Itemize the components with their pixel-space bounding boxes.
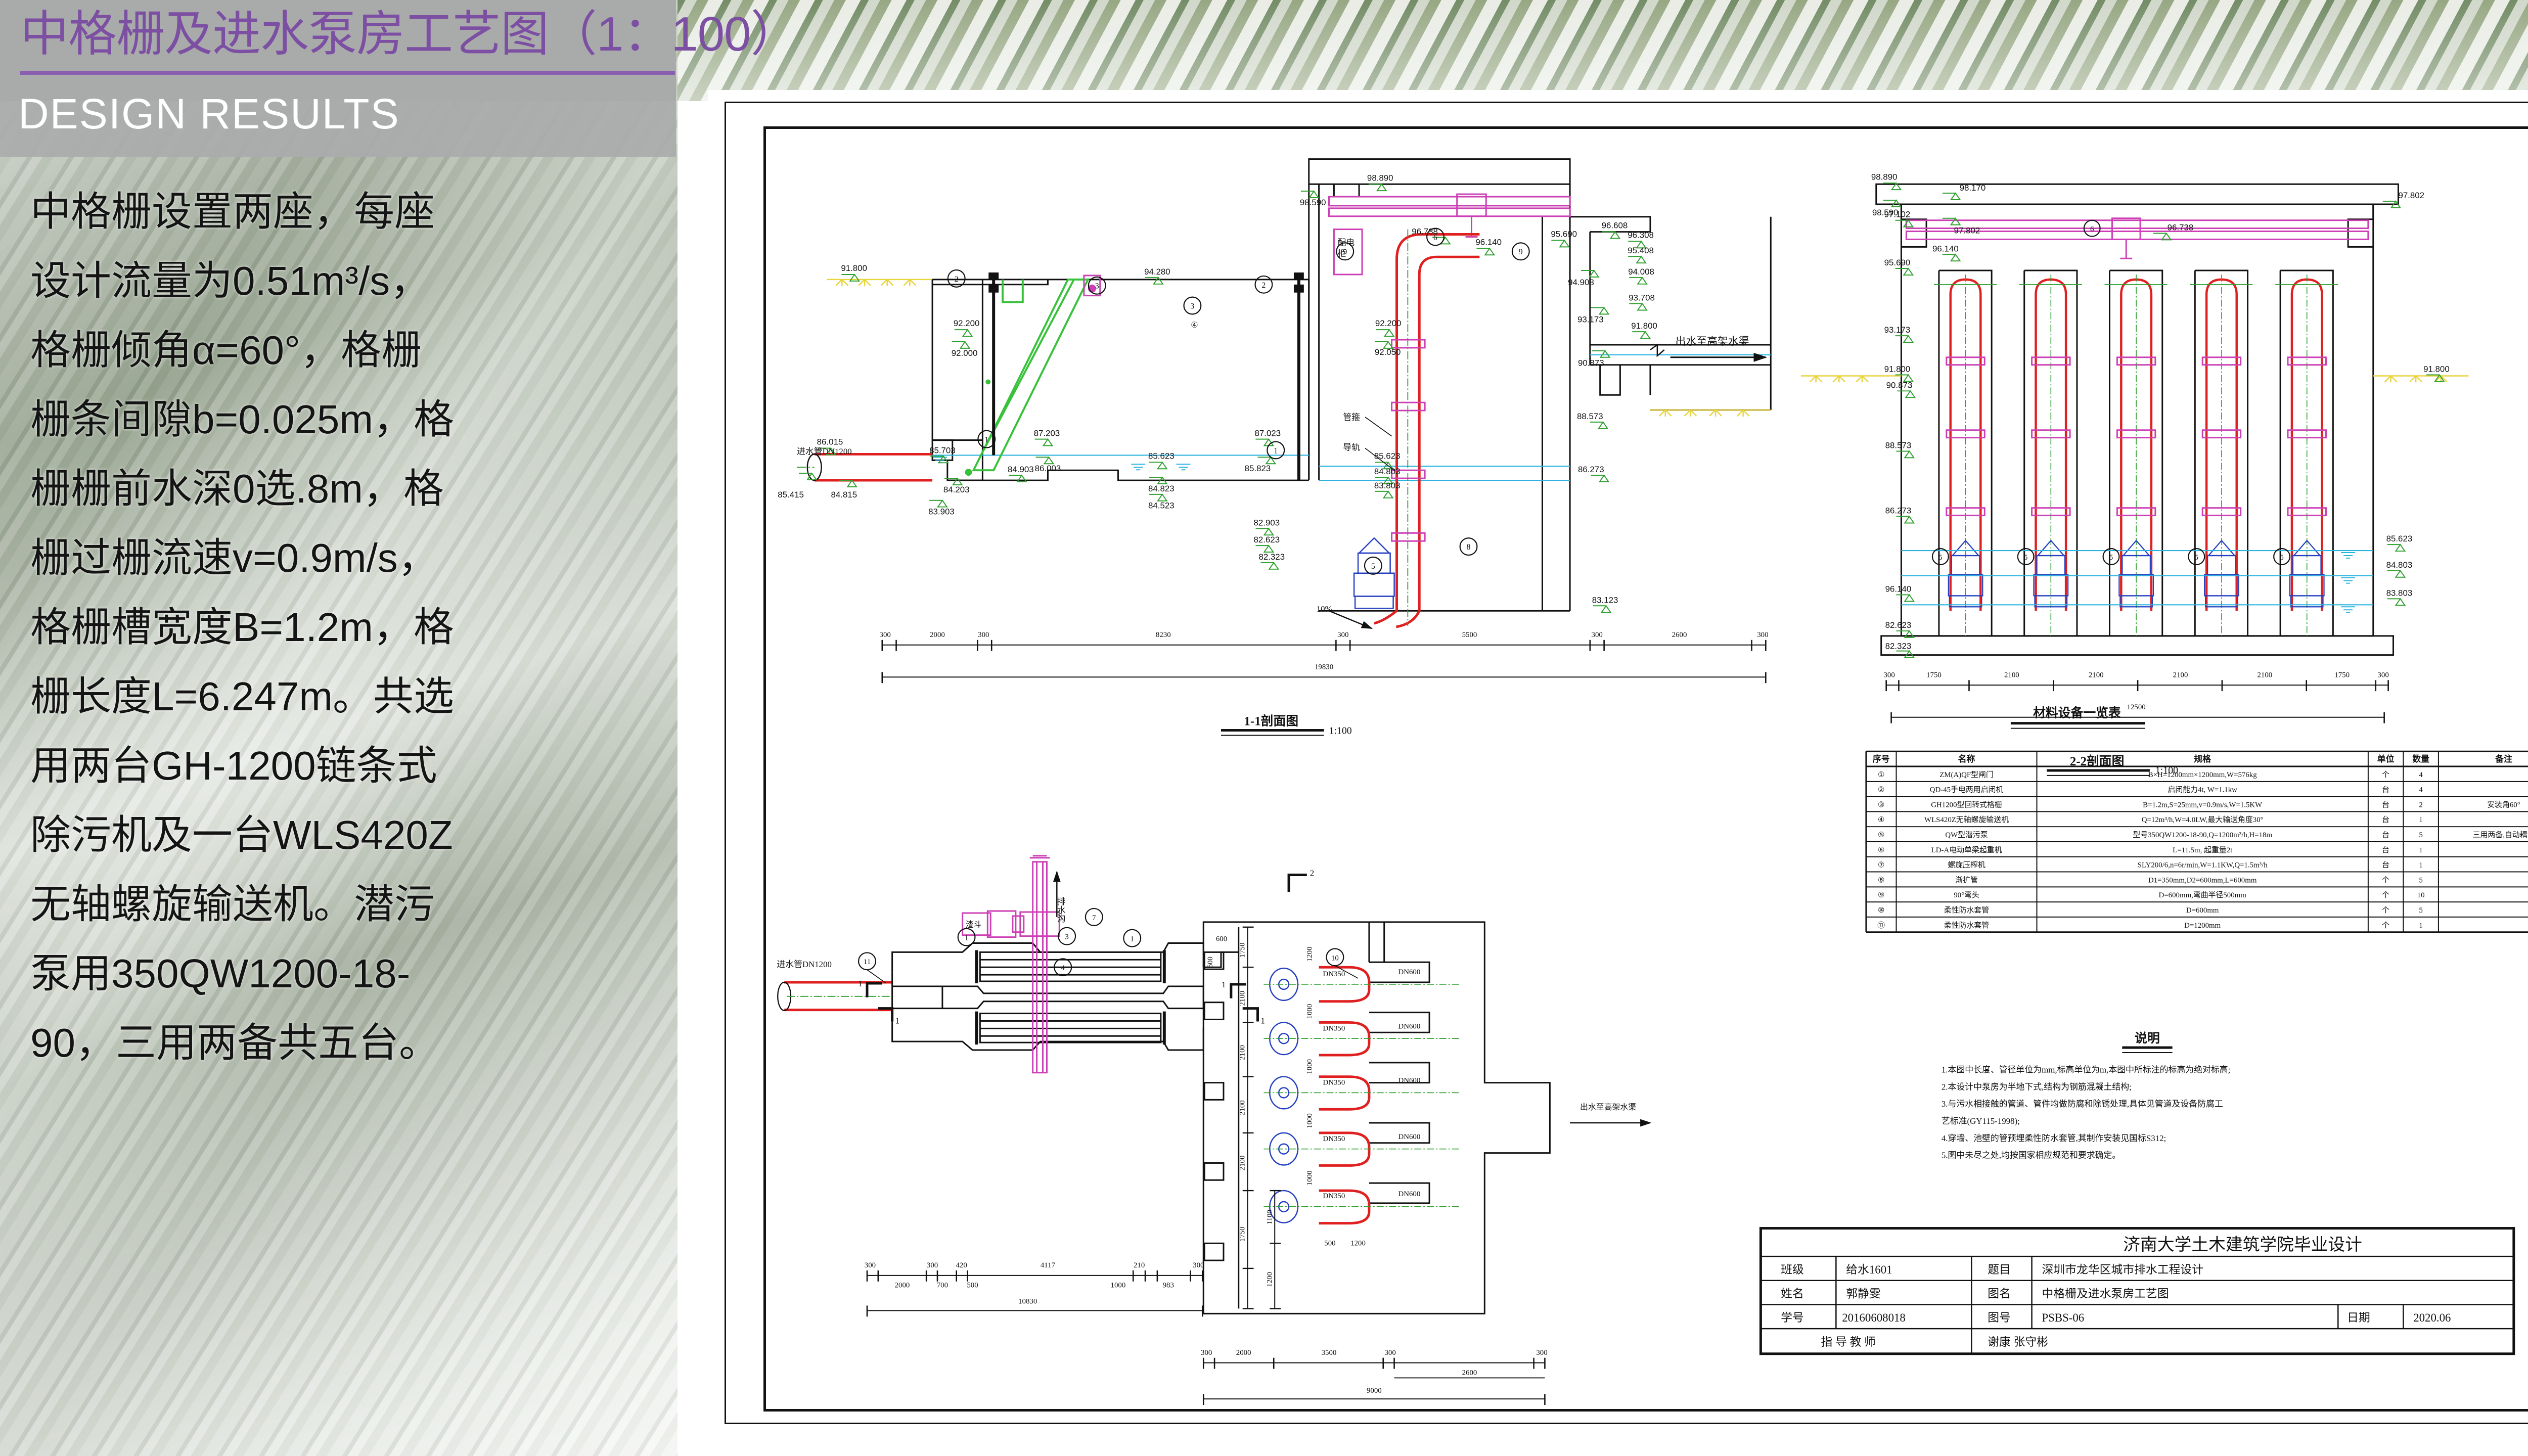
svg-text:5: 5 (2109, 554, 2113, 562)
svg-text:4: 4 (1061, 964, 1065, 972)
note-line: 1.本图中长度、管径单位为mm,标高单位为m,本图中所标注的标高为绝对标高; (1942, 1065, 2230, 1075)
svg-text:DN600: DN600 (1398, 968, 1421, 976)
svg-text:谢康 张守彬: 谢康 张守彬 (1988, 1336, 2048, 1348)
svg-text:DN600: DN600 (1398, 1077, 1421, 1085)
svg-text:19830: 19830 (1315, 663, 1333, 671)
table-cell: 1 (2419, 922, 2422, 930)
svg-text:④: ④ (1191, 321, 1198, 330)
table-cell: 个 (2382, 876, 2389, 884)
svg-text:97.802: 97.802 (2398, 191, 2424, 200)
svg-text:1000: 1000 (1306, 1059, 1314, 1074)
table-cell: ⑨ (1878, 891, 1884, 899)
svg-text:84.803: 84.803 (2386, 560, 2413, 570)
svg-text:DN350: DN350 (1323, 970, 1345, 978)
svg-text:9: 9 (1343, 248, 1347, 256)
svg-text:88.573: 88.573 (1577, 412, 1603, 421)
svg-text:2100: 2100 (2173, 671, 2188, 679)
svg-text:深圳市龙华区城市排水工程设计: 深圳市龙华区城市排水工程设计 (2042, 1263, 2203, 1276)
table-cell: 螺旋压榨机 (1948, 860, 1985, 870)
table-cell: L=11.5m, 起重量2t (2173, 846, 2233, 854)
svg-text:92.000: 92.000 (952, 348, 978, 358)
svg-text:指 导 教 师: 指 导 教 师 (1821, 1336, 1876, 1348)
table-cell: ZM(A)QF型闸门 (1939, 770, 1994, 779)
svg-text:91.800: 91.800 (2423, 365, 2450, 374)
svg-text:95.408: 95.408 (1628, 246, 1654, 255)
table-cell: 5 (2419, 906, 2422, 915)
section-2-2-drawing: 98.890 98.170 98.590 97.802 97.802 97.10… (1801, 172, 2469, 776)
body-line: 除污机及一台WLS420Z (30, 800, 652, 870)
table-cell: 数量 (2412, 754, 2429, 764)
body-line: 栅过栅流速v=0.9m/s， (30, 523, 652, 593)
svg-text:1000: 1000 (1306, 1113, 1314, 1128)
svg-text:班级: 班级 (1781, 1263, 1804, 1276)
table-cell: 备注 (2495, 754, 2512, 764)
svg-text:10: 10 (1331, 954, 1339, 962)
svg-text:84.523: 84.523 (1148, 501, 1175, 511)
table-cell: 个 (2382, 891, 2389, 899)
note-line: 3.与污水相接触的管道、管件均做防腐和除锈处理,具体见管道及设备防腐工 (1942, 1099, 2223, 1109)
svg-text:83.123: 83.123 (1592, 595, 1618, 605)
svg-text:1750: 1750 (1926, 671, 1942, 679)
svg-text:DN350: DN350 (1323, 1192, 1345, 1200)
table-cell: D1=350mm,D2=600mm,L=600mm (2148, 876, 2257, 884)
svg-text:给水1601: 给水1601 (1846, 1263, 1892, 1276)
svg-text:420: 420 (956, 1261, 967, 1269)
svg-text:2100: 2100 (1239, 1100, 1247, 1115)
svg-text:2100: 2100 (1239, 991, 1247, 1006)
svg-text:300: 300 (1883, 671, 1894, 679)
table-cell: 柔性防水套管 (1944, 921, 1989, 930)
svg-text:85.623: 85.623 (1148, 451, 1175, 461)
svg-text:84.203: 84.203 (943, 485, 970, 494)
cad-drawing-panel: 91.800 (708, 90, 2528, 1438)
svg-text:1750: 1750 (1239, 943, 1247, 958)
svg-text:1: 1 (858, 979, 862, 988)
svg-text:DN600: DN600 (1398, 1190, 1421, 1198)
svg-text:2020.06: 2020.06 (2413, 1311, 2451, 1324)
svg-text:5: 5 (1371, 562, 1375, 571)
svg-text:210: 210 (1134, 1261, 1145, 1269)
notes-title: 说明 (2135, 1031, 2160, 1045)
svg-text:渣斗: 渣斗 (966, 920, 982, 929)
svg-text:91.800: 91.800 (1884, 365, 1911, 374)
svg-text:3: 3 (1095, 282, 1099, 291)
svg-text:500: 500 (1324, 1239, 1335, 1247)
note-line: 4.穿墙、池壁的管预埋柔性防水套管,其制作安装见国标S312; (1942, 1133, 2166, 1143)
svg-text:2600: 2600 (1462, 1369, 1477, 1377)
svg-text:DN600: DN600 (1398, 1133, 1421, 1141)
note-line: 艺标准(GY115-1998); (1942, 1116, 2020, 1126)
table-cell: D=600mm,弯曲半径500mm (2159, 891, 2247, 899)
svg-text:300: 300 (865, 1261, 876, 1269)
svg-text:98.890: 98.890 (1871, 172, 1898, 181)
svg-text:出水至高架水渠: 出水至高架水渠 (1580, 1103, 1636, 1112)
svg-text:84.823: 84.823 (1148, 484, 1175, 493)
svg-text:3: 3 (1065, 933, 1068, 941)
body-line: 栅条间隙b=0.025m，格 (30, 385, 652, 454)
svg-text:1200: 1200 (1306, 947, 1314, 962)
svg-text:1200: 1200 (1350, 1239, 1366, 1247)
table-cell: D=600mm (2186, 906, 2219, 915)
svg-text:85.623: 85.623 (2386, 534, 2413, 543)
svg-text:1750: 1750 (2334, 671, 2350, 679)
table-cell: ⑤ (1878, 831, 1884, 839)
svg-text:1: 1 (1222, 980, 1226, 989)
table-cell: 5 (2419, 831, 2422, 839)
table-cell: 个 (2382, 921, 2389, 930)
table-cell: 渐扩管 (1955, 876, 1978, 884)
svg-text:600: 600 (1216, 935, 1227, 943)
table-cell: 单位 (2377, 754, 2395, 764)
svg-text:5: 5 (2195, 554, 2198, 562)
title-underline (20, 71, 675, 75)
table-cell: 2 (2419, 801, 2422, 809)
svg-text:1200: 1200 (1266, 1272, 1274, 1287)
svg-text:1750: 1750 (1239, 1227, 1247, 1242)
body-line: 用两台GH-1200链条式 (30, 731, 652, 800)
svg-text:93.173: 93.173 (1884, 325, 1911, 335)
svg-text:300: 300 (1193, 1261, 1204, 1269)
svg-text:8230: 8230 (1156, 631, 1171, 639)
design-results-text: 中格栅设置两座，每座设计流量为0.51m³/s，格栅倾角α=60°，格栅栅条间隙… (30, 177, 652, 1077)
svg-text:98.890: 98.890 (1367, 173, 1393, 183)
table-cell: ⑥ (1878, 846, 1884, 854)
table-cell: GH1200型回转式格栅 (1931, 800, 2002, 809)
svg-text:DN350: DN350 (1323, 1079, 1345, 1087)
table-cell: 名称 (1958, 754, 1975, 764)
table-cell: 三用两备,自动耦合 (2473, 831, 2528, 839)
svg-text:1000: 1000 (1111, 1282, 1126, 1290)
svg-text:2000: 2000 (895, 1282, 910, 1290)
svg-text:2100: 2100 (1239, 1156, 1247, 1171)
svg-text:1: 1 (984, 436, 988, 444)
svg-text:5: 5 (1938, 554, 1942, 562)
svg-text:94.908: 94.908 (1568, 278, 1594, 287)
svg-text:1: 1 (965, 934, 968, 942)
svg-text:2100: 2100 (2004, 671, 2019, 679)
svg-text:日期: 日期 (2347, 1311, 2370, 1324)
svg-text:83.803: 83.803 (2386, 588, 2413, 598)
svg-text:学号: 学号 (1781, 1311, 1804, 1324)
svg-text:2100: 2100 (2257, 671, 2272, 679)
svg-text:300: 300 (1201, 1349, 1212, 1357)
svg-text:600: 600 (1206, 957, 1214, 968)
svg-text:96.140: 96.140 (1885, 584, 1912, 594)
note-line: 2.本设计中泵房为半地下式,结构为钢筋混凝土结构; (1942, 1082, 2132, 1091)
table-cell: ③ (1878, 801, 1884, 809)
svg-text:1: 1 (1131, 935, 1134, 943)
svg-text:90.873: 90.873 (1578, 358, 1604, 368)
table-cell: ② (1878, 786, 1884, 794)
svg-text:86.273: 86.273 (1885, 506, 1912, 516)
svg-text:83.903: 83.903 (928, 507, 955, 517)
svg-text:98.590: 98.590 (1300, 198, 1326, 207)
page-title: 中格栅及进水泵房工艺图（1：100） (20, 4, 1082, 65)
svg-text:82.903: 82.903 (1254, 518, 1280, 527)
table-cell: SLY200/6,n=6r/min,W=1.1KW,Q=1.5m³/h (2138, 861, 2268, 870)
table-cell: Q=12m³/h,W=4.0LW,最大输送角度30° (2142, 815, 2264, 824)
svg-text:300: 300 (880, 631, 891, 639)
svg-text:PSBS-06: PSBS-06 (2042, 1311, 2084, 1324)
table-cell: 个 (2382, 770, 2389, 779)
plan-drawing: 进水管DN1200 渣斗 (777, 856, 1650, 1409)
slide-root: 中格栅及进水泵房工艺图（1：100） DESIGN RESULTS 中格栅设置两… (0, 0, 2528, 1456)
org-name: 济南大学土木建筑学院毕业设计 (2123, 1235, 2362, 1254)
table-cell: ④ (1878, 816, 1884, 824)
svg-text:98.170: 98.170 (1960, 183, 1986, 193)
svg-text:92.050: 92.050 (1375, 347, 1401, 357)
svg-text:93.708: 93.708 (1629, 293, 1655, 303)
svg-text:96.738: 96.738 (2168, 223, 2194, 233)
svg-text:1000: 1000 (1306, 1004, 1314, 1019)
svg-text:300: 300 (1536, 1349, 1547, 1357)
svg-text:中格栅及进水泵房工艺图: 中格栅及进水泵房工艺图 (2042, 1288, 2169, 1300)
svg-text:84.815: 84.815 (831, 490, 857, 499)
svg-text:2600: 2600 (1672, 631, 1687, 639)
table-cell: ⑧ (1878, 876, 1884, 884)
svg-text:96.308: 96.308 (1628, 230, 1654, 240)
table-cell: ⑪ (1877, 921, 1885, 930)
note-line: 5.图中未尽之处,均按国家相应规范和要求确定。 (1942, 1151, 2120, 1160)
svg-text:85.623: 85.623 (1374, 451, 1401, 461)
elevation-label: 91.800 (841, 263, 867, 273)
svg-text:82.323: 82.323 (1258, 552, 1285, 562)
svg-text:题目: 题目 (1988, 1263, 2011, 1276)
table-cell: ⑦ (1878, 861, 1884, 870)
svg-text:92.200: 92.200 (1375, 318, 1402, 328)
svg-text:90.873: 90.873 (1886, 380, 1913, 390)
table-cell: B×H=1200mm×1200mm,W=576kg (2148, 771, 2258, 779)
svg-text:1100: 1100 (1266, 1210, 1274, 1224)
title-block: 济南大学土木建筑学院毕业设计 班级给水1601 题目深圳市龙华区城市排水工程设计… (1760, 1228, 2513, 1354)
svg-text:2100: 2100 (1239, 1045, 1247, 1060)
svg-text:300: 300 (1384, 1349, 1395, 1357)
body-line: 设计流量为0.51m³/s， (30, 246, 652, 315)
svg-text:管箍: 管箍 (1343, 413, 1360, 422)
table-cell: WLS420Z无轴螺旋输送机 (1924, 815, 2009, 824)
section-1-1-drawing: 91.800 (778, 159, 1771, 737)
page-subtitle: DESIGN RESULTS (18, 86, 625, 147)
sheet-inner-border: 91.800 (763, 126, 2528, 1412)
svg-text:3: 3 (1190, 302, 1194, 310)
body-line: 泵用350QW1200-18- (30, 939, 652, 1008)
sheet-outer-border: 91.800 (725, 102, 2528, 1424)
svg-text:95.690: 95.690 (1884, 258, 1911, 267)
svg-text:9000: 9000 (1367, 1387, 1382, 1395)
svg-text:6: 6 (2090, 225, 2094, 234)
table-cell: ⑩ (1878, 906, 1884, 915)
svg-text:86.015: 86.015 (817, 437, 843, 447)
svg-text:300: 300 (1592, 631, 1603, 639)
svg-text:11: 11 (864, 958, 871, 966)
table-cell: 4 (2419, 786, 2423, 794)
svg-text:85.415: 85.415 (778, 490, 804, 499)
svg-text:97.802: 97.802 (1954, 226, 1980, 236)
notes-block: 说明 1.本图中长度、管径单位为mm,标高单位为m,本图中所标注的标高为绝对标高… (1942, 1031, 2230, 1160)
table-cell: 个 (2382, 906, 2389, 915)
svg-text:DN350: DN350 (1323, 1135, 1345, 1143)
svg-text:2000: 2000 (930, 631, 945, 639)
svg-text:进水管DN1200: 进水管DN1200 (797, 446, 852, 456)
svg-text:2: 2 (1310, 868, 1314, 878)
table-cell: 5 (2419, 876, 2422, 884)
svg-text:2000: 2000 (1236, 1349, 1251, 1357)
svg-text:300: 300 (927, 1261, 938, 1269)
body-line: 无轴螺旋输送机。潜污 (30, 870, 652, 939)
svg-text:300: 300 (1337, 631, 1348, 639)
svg-text:姓名: 姓名 (1781, 1288, 1804, 1300)
svg-text:导轨: 导轨 (1343, 442, 1360, 452)
table-cell: 台 (2382, 846, 2389, 854)
table-cell: 1 (2419, 816, 2422, 824)
svg-text:3500: 3500 (1322, 1349, 1337, 1357)
svg-text:86.003: 86.003 (1035, 464, 1061, 473)
svg-text:5500: 5500 (1462, 631, 1477, 639)
svg-text:4117: 4117 (1041, 1261, 1056, 1269)
svg-text:10830: 10830 (1018, 1297, 1037, 1305)
dimension-chain-1-1 (882, 640, 1766, 683)
svg-text:DN600: DN600 (1398, 1022, 1421, 1030)
table-cell: 序号 (1873, 754, 1890, 764)
svg-text:10%: 10% (1317, 604, 1332, 614)
table-cell: 启闭能力4t, W=1.1kw (2168, 786, 2237, 794)
table-cell: LD-A电动单梁起重机 (1931, 846, 2002, 854)
table-cell: QW型潜污泵 (1945, 831, 1988, 839)
table-cell: D=1200mm (2184, 922, 2221, 930)
svg-text:300: 300 (1757, 631, 1768, 639)
svg-text:82.623: 82.623 (1885, 620, 1912, 630)
table-cell: 1 (2419, 861, 2422, 870)
table-cell: 台 (2382, 861, 2389, 870)
table-cell: 柔性防水套管 (1944, 906, 1989, 915)
svg-text:92.200: 92.200 (954, 318, 980, 328)
table-cell: 1 (2419, 846, 2422, 854)
svg-text:983: 983 (1163, 1282, 1174, 1290)
material-equipment-table: 材料设备一览表 序号名称规格单位数量备注①ZM(A)QF型闸门B×H=1200m… (1866, 706, 2528, 932)
svg-text:图名: 图名 (1988, 1288, 2011, 1300)
svg-text:88.573: 88.573 (1885, 441, 1912, 450)
svg-text:83.803: 83.803 (1374, 481, 1401, 490)
table-cell: 安装角60° (2487, 800, 2520, 809)
svg-text:500: 500 (967, 1282, 978, 1290)
table-cell: 4 (2419, 771, 2423, 779)
svg-text:1: 1 (1274, 446, 1278, 455)
table-cell: 台 (2382, 800, 2389, 809)
table-cell: QD-45手电两用启闭机 (1930, 786, 2004, 794)
svg-text:91.800: 91.800 (1631, 321, 1657, 331)
cad-canvas: 91.800 (766, 129, 2528, 1409)
body-line: 中格栅设置两座，每座 (30, 177, 652, 246)
svg-text:82.323: 82.323 (1885, 642, 1912, 651)
body-line: 90，三用两备共五台。 (30, 1008, 652, 1077)
svg-text:85.703: 85.703 (929, 445, 956, 455)
svg-text:20160608018: 20160608018 (1842, 1311, 1906, 1324)
svg-text:1: 1 (1260, 1016, 1265, 1025)
body-line: 栅栅前水深0选.8m，格 (30, 454, 652, 523)
svg-text:5: 5 (2280, 554, 2283, 562)
svg-text:87.023: 87.023 (1255, 429, 1281, 438)
svg-text:郭静雯: 郭静雯 (1846, 1288, 1880, 1300)
svg-text:1:100: 1:100 (1329, 725, 1351, 736)
table-cell: 台 (2382, 815, 2389, 824)
svg-text:7: 7 (1092, 914, 1096, 922)
table-cell: 规格 (2194, 754, 2211, 764)
svg-text:94.008: 94.008 (1628, 267, 1654, 277)
svg-text:6: 6 (1433, 233, 1437, 242)
table-cell: B=1.2m,S=25mm,v=0.9m/s,W=1.5KW (2143, 801, 2263, 809)
svg-text:96.140: 96.140 (1475, 237, 1502, 247)
material-table-title: 材料设备一览表 (2033, 706, 2121, 720)
svg-text:5: 5 (2024, 554, 2027, 562)
svg-text:700: 700 (937, 1282, 948, 1290)
table-cell: 台 (2382, 786, 2389, 794)
svg-text:300: 300 (978, 631, 989, 639)
svg-text:图号: 图号 (1988, 1311, 2011, 1324)
svg-text:85.823: 85.823 (1245, 464, 1271, 473)
svg-text:84.803: 84.803 (1374, 467, 1401, 476)
svg-text:87.203: 87.203 (1034, 429, 1060, 438)
svg-text:DN350: DN350 (1323, 1024, 1345, 1032)
svg-text:进水管DN1200: 进水管DN1200 (777, 960, 832, 969)
table-cell: ① (1878, 771, 1884, 779)
table-cell: 10 (2417, 891, 2425, 899)
body-line: 栅长度L=6.247m。共选 (30, 662, 652, 731)
svg-text:93.173: 93.173 (1577, 314, 1604, 324)
svg-text:84.903: 84.903 (1008, 465, 1034, 474)
svg-text:出水至高架水渠: 出水至高架水渠 (1676, 335, 1749, 347)
table-cell: 90°弯头 (1954, 891, 1979, 899)
svg-text:86.273: 86.273 (1578, 465, 1604, 474)
svg-text:1: 1 (895, 1016, 899, 1025)
svg-text:1000: 1000 (1306, 1170, 1314, 1186)
svg-text:97.102: 97.102 (1884, 210, 1911, 219)
svg-text:2100: 2100 (2089, 671, 2104, 679)
svg-text:12500: 12500 (2127, 703, 2146, 711)
svg-text:94.280: 94.280 (1144, 267, 1170, 277)
svg-text:300: 300 (2378, 671, 2389, 679)
table-cell: 型号350QW1200-18-90,Q=1200m³/h,H=18m (2133, 831, 2272, 839)
svg-text:2: 2 (955, 275, 959, 284)
svg-text:8: 8 (1467, 543, 1471, 552)
svg-text:9: 9 (1519, 248, 1523, 256)
table-cell: 台 (2382, 831, 2389, 839)
svg-text:2: 2 (1261, 281, 1266, 290)
svg-text:96.608: 96.608 (1602, 221, 1628, 231)
body-line: 格栅倾角α=60°，格栅 (30, 315, 652, 385)
svg-text:95.690: 95.690 (1551, 229, 1577, 239)
body-line: 格栅槽宽度B=1.2m，格 (30, 593, 652, 662)
svg-text:96.140: 96.140 (1932, 244, 1959, 253)
svg-text:82.623: 82.623 (1254, 535, 1280, 544)
view-caption-1-1: 1-1剖面图 (1244, 714, 1299, 729)
